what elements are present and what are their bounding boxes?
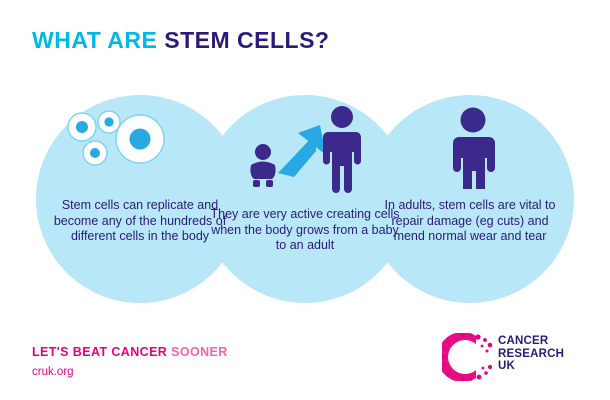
footer-tagline: LET'S BEAT CANCER SOONER <box>32 345 228 359</box>
cruk-c-logo-icon <box>442 333 494 381</box>
footer-url[interactable]: cruk.org <box>32 366 74 378</box>
circle-text-replicate: Stem cells can replicate and become any … <box>45 198 235 245</box>
cruk-logo: CANCER RESEARCH UK <box>442 333 577 381</box>
stem-cells-cluster-icon <box>62 109 182 187</box>
circle-text-growth: They are very active creating cells when… <box>210 207 400 254</box>
footer-tagline-main: LET'S BEAT CANCER <box>32 345 171 359</box>
page-title: WHAT ARE STEM CELLS? <box>32 27 330 54</box>
adult-figure-icon <box>438 107 508 189</box>
page-title-highlight: STEM CELLS? <box>164 27 329 53</box>
circle-text-repair: In adults, stem cells are vital to repai… <box>375 198 565 245</box>
circles-row: Stem cells can replicate and become any … <box>0 95 610 303</box>
cruk-logo-text: CANCER RESEARCH UK <box>498 335 578 373</box>
footer-tagline-accent: SOONER <box>171 345 228 359</box>
cruk-logo-line3: UK <box>498 360 578 373</box>
infographic-root: WHAT ARE STEM CELLS? <box>0 0 610 400</box>
baby-to-adult-growth-icon <box>242 103 372 193</box>
cruk-logo-line1: CANCER <box>498 335 578 348</box>
cruk-logo-line2: RESEARCH <box>498 348 578 361</box>
page-title-lead: WHAT ARE <box>32 27 164 53</box>
